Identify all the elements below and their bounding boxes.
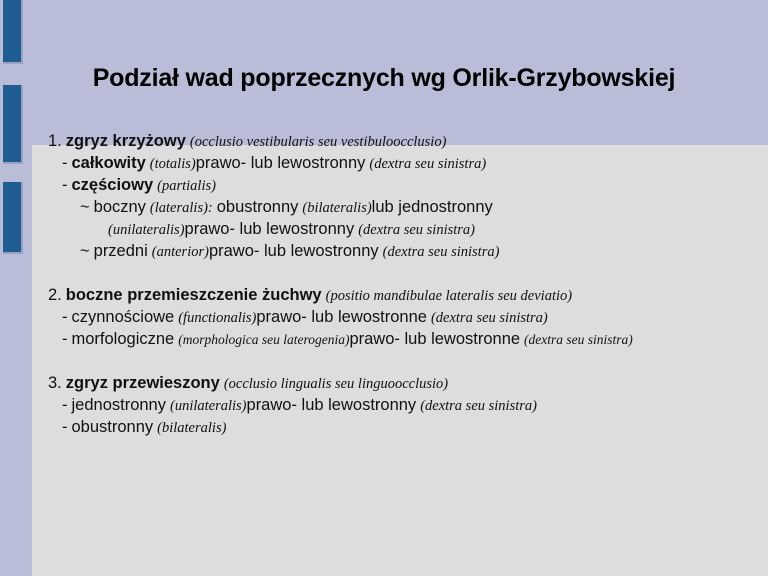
list-item: -jednostronny(unilateralis)prawo- lub le… <box>48 394 760 416</box>
item-desc-lat: (dextra seu sinistra) <box>420 398 537 414</box>
item-desc-lat: (dextra seu sinistra) <box>431 310 548 326</box>
item-term-pl: jednostronny <box>72 396 166 414</box>
list-item: -czynnościowe(functionalis)prawo- lub le… <box>48 306 760 328</box>
page-title: Podział wad poprzecznych wg Orlik-Grzybo… <box>0 64 768 93</box>
bullet-dash: - <box>62 330 68 348</box>
section-heading-lat: (occlusio vestibularis seu vestibulooccl… <box>190 134 447 150</box>
item-term-lat: (totalis) <box>150 156 196 172</box>
item-desc-lat: (bilateralis) <box>302 200 371 216</box>
item-term-lat: (partialis) <box>157 178 216 194</box>
bullet-dash: - <box>62 418 68 436</box>
section-heading-pl: zgryz przewieszony <box>66 374 220 392</box>
item-desc-pl: prawo- lub lewostronny <box>209 242 379 260</box>
item-desc-lat: (dextra seu sinistra) <box>524 332 633 347</box>
section-heading: 1.zgryz krzyżowy(occlusio vestibularis s… <box>48 130 760 152</box>
item-desc-pl: prawo- lub lewostronne <box>349 330 520 348</box>
item-term-pl: całkowity <box>72 154 146 172</box>
section-spacer <box>48 262 760 284</box>
list-item: -obustronny(bilateralis) <box>48 416 760 438</box>
section-number: 2. <box>48 286 62 304</box>
slide-canvas: Podział wad poprzecznych wg Orlik-Grzybo… <box>0 0 768 576</box>
decorative-blue-block-3 <box>3 182 23 254</box>
item-wrap-lat: (unilateralis) <box>108 222 185 238</box>
item-wrap-pl: prawo- lub lewostronny <box>185 220 355 238</box>
item-term-lat: (morphologica seu laterogenia) <box>178 332 349 347</box>
bullet-tilde: ~ <box>80 242 90 260</box>
section-heading: 2.boczne przemieszczenie żuchwy(positio … <box>48 284 760 306</box>
item-term-pl: obustronny <box>72 418 154 436</box>
item-desc-pl: prawo- lub lewostronny <box>196 154 366 172</box>
section-spacer <box>48 350 760 372</box>
item-term-lat: (unilateralis) <box>170 398 247 414</box>
section-heading-lat: (positio mandibulae lateralis seu deviat… <box>326 288 572 304</box>
item-term-pl: morfologiczne <box>72 330 175 348</box>
list-item: -całkowity(totalis)prawo- lub lewostronn… <box>48 152 760 174</box>
item-term-lat: (anterior) <box>152 244 209 260</box>
item-term-pl: przedni <box>94 242 148 260</box>
list-item: -morfologiczne(morphologica seu lateroge… <box>48 328 760 350</box>
item-term-pl: czynnościowe <box>72 308 175 326</box>
list-item-wrap: (unilateralis)prawo- lub lewostronny(dex… <box>48 218 760 240</box>
item-term-lat: (bilateralis) <box>157 420 226 436</box>
item-desc2-pl: lub jednostronny <box>372 198 493 216</box>
item-term-lat: (lateralis): <box>150 200 213 216</box>
item-desc-pl: prawo- lub lewostronne <box>256 308 427 326</box>
list-item: ~boczny(lateralis):obustronny(bilaterali… <box>48 196 760 218</box>
item-desc-pl: prawo- lub lewostronny <box>247 396 417 414</box>
bullet-dash: - <box>62 176 68 194</box>
item-term-lat: (functionalis) <box>178 310 256 326</box>
list-item: ~przedni(anterior)prawo- lub lewostronny… <box>48 240 760 262</box>
section-number: 1. <box>48 132 62 150</box>
bullet-dash: - <box>62 308 68 326</box>
section-heading-pl: boczne przemieszczenie żuchwy <box>66 286 322 304</box>
section-number: 3. <box>48 374 62 392</box>
item-desc-pl: obustronny <box>217 198 299 216</box>
item-term-pl: częściowy <box>72 176 154 194</box>
section-heading-pl: zgryz krzyżowy <box>66 132 186 150</box>
bullet-tilde: ~ <box>80 198 90 216</box>
bullet-dash: - <box>62 396 68 414</box>
body-content: 1.zgryz krzyżowy(occlusio vestibularis s… <box>48 130 760 438</box>
bullet-dash: - <box>62 154 68 172</box>
decorative-blue-block-1 <box>3 0 23 64</box>
item-desc-lat: (dextra seu sinistra) <box>383 244 500 260</box>
item-term-pl: boczny <box>94 198 146 216</box>
item-desc-lat: (dextra seu sinistra) <box>369 156 486 172</box>
item-wrap-lat2: (dextra seu sinistra) <box>358 222 475 238</box>
decorative-blue-block-2 <box>3 85 23 164</box>
section-heading-lat: (occlusio lingualis seu linguoocclusio) <box>224 376 448 392</box>
list-item: -częściowy(partialis) <box>48 174 760 196</box>
section-heading: 3.zgryz przewieszony(occlusio lingualis … <box>48 372 760 394</box>
